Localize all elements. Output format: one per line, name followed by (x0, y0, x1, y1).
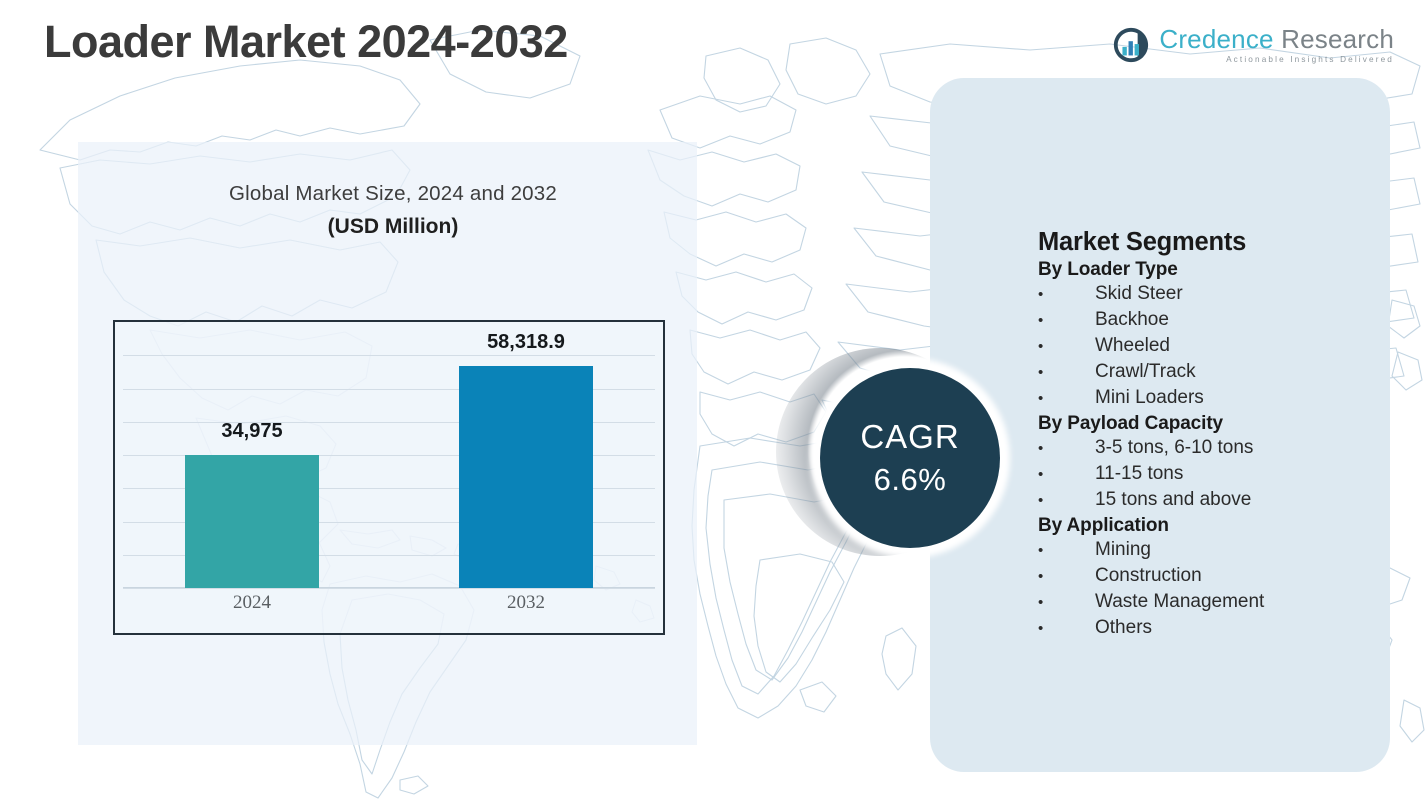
bar-value-label: 34,975 (152, 420, 352, 443)
segment-groups: By Loader Type•Skid Steer•Backhoe•Wheele… (1038, 259, 1378, 641)
segment-list-item: •Skid Steer (1038, 281, 1378, 307)
bullet-icon: • (1038, 462, 1095, 487)
bullet-icon: • (1038, 282, 1095, 307)
segment-group-heading: By Loader Type (1038, 259, 1378, 281)
segment-item-label: Wheeled (1095, 333, 1378, 358)
segment-list-item: •3-5 tons, 6-10 tons (1038, 435, 1378, 461)
bullet-icon: • (1038, 590, 1095, 615)
brand-name-secondary: Research (1281, 24, 1394, 54)
x-axis-labels: 20242032 (115, 584, 663, 633)
bullet-icon: • (1038, 436, 1095, 461)
segment-list-item: •Backhoe (1038, 307, 1378, 333)
bullet-icon: • (1038, 360, 1095, 385)
bar-chart-circle-icon (1112, 26, 1150, 64)
x-axis-label-2032: 2032 (456, 592, 596, 614)
segment-item-label: Mini Loaders (1095, 385, 1378, 410)
segment-list-item: •Mining (1038, 537, 1378, 563)
x-axis-label-2024: 2024 (182, 592, 322, 614)
segment-list-item: •15 tons and above (1038, 487, 1378, 513)
page-title: Loader Market 2024-2032 (44, 16, 568, 68)
segment-list-item: •Others (1038, 615, 1378, 641)
segment-item-label: Construction (1095, 563, 1378, 588)
brand-tagline: Actionable Insights Delivered (1159, 56, 1394, 64)
infographic-canvas: Loader Market 2024-2032 Credence Researc… (0, 0, 1428, 804)
brand-name-primary: Credence (1159, 24, 1273, 54)
segment-item-label: Waste Management (1095, 589, 1378, 614)
cagr-badge: CAGR 6.6% (772, 336, 1028, 592)
segment-item-label: 11-15 tons (1095, 461, 1378, 486)
bar-2032 (459, 366, 593, 588)
cagr-label: CAGR (860, 418, 959, 456)
bullet-icon: • (1038, 308, 1095, 333)
segment-item-label: Crawl/Track (1095, 359, 1378, 384)
segment-group-heading: By Payload Capacity (1038, 413, 1378, 435)
segment-item-label: Mining (1095, 537, 1378, 562)
bar-chart: 34,97558,318.9 20242032 (113, 320, 665, 635)
bullet-icon: • (1038, 488, 1095, 513)
segment-item-label: 3-5 tons, 6-10 tons (1095, 435, 1378, 460)
segment-item-label: Others (1095, 615, 1378, 640)
cagr-value: 6.6% (874, 462, 947, 498)
chart-heading: Global Market Size, 2024 and 2032 (USD M… (118, 182, 668, 239)
plot-area: 34,97558,318.9 (115, 322, 663, 588)
bullet-icon: • (1038, 334, 1095, 359)
market-segments: Market Segments By Loader Type•Skid Stee… (1038, 228, 1378, 641)
cagr-circle: CAGR 6.6% (820, 368, 1000, 548)
segment-list-item: •Waste Management (1038, 589, 1378, 615)
segment-list-item: •Wheeled (1038, 333, 1378, 359)
brand-text: Credence Research Actionable Insights De… (1159, 26, 1394, 64)
market-segments-title: Market Segments (1038, 228, 1378, 257)
chart-heading-line1: Global Market Size, 2024 and 2032 (118, 182, 668, 206)
segment-list-item: •Construction (1038, 563, 1378, 589)
bullet-icon: • (1038, 386, 1095, 411)
segment-list-item: •Mini Loaders (1038, 385, 1378, 411)
bar-2024 (185, 455, 319, 588)
gridline (123, 355, 655, 356)
bullet-icon: • (1038, 564, 1095, 589)
segment-list-item: •11-15 tons (1038, 461, 1378, 487)
bullet-icon: • (1038, 616, 1095, 641)
bar-value-label: 58,318.9 (426, 331, 626, 354)
segment-list-item: •Crawl/Track (1038, 359, 1378, 385)
segment-group-heading: By Application (1038, 515, 1378, 537)
bullet-icon: • (1038, 538, 1095, 563)
chart-heading-line2: (USD Million) (118, 215, 668, 239)
segment-item-label: 15 tons and above (1095, 487, 1378, 512)
segment-item-label: Skid Steer (1095, 281, 1378, 306)
segment-item-label: Backhoe (1095, 307, 1378, 332)
brand-logo: Credence Research Actionable Insights De… (1112, 26, 1394, 64)
